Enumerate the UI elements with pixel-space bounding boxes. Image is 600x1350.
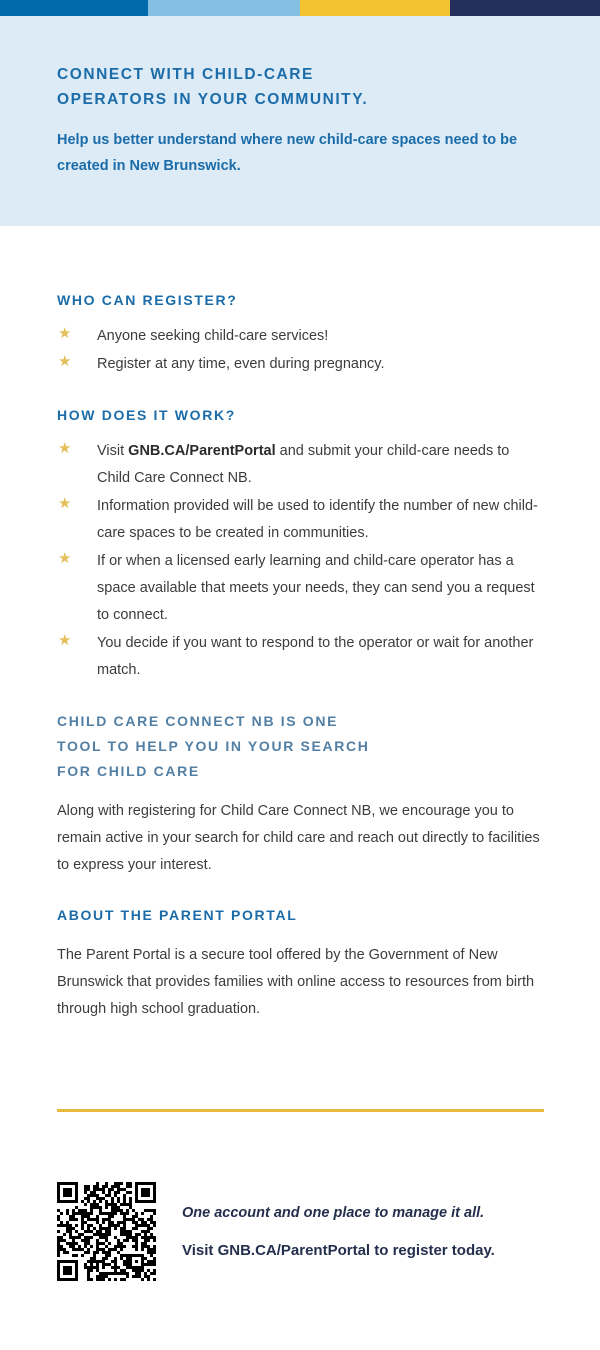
list-item-text: Information provided will be used to ide…	[97, 498, 538, 541]
topbar-segment-light-blue	[148, 0, 300, 16]
heading-line-3: FOR CHILD CARE	[57, 759, 544, 784]
spacer	[57, 428, 544, 438]
body-content: WHO CAN REGISTER? ★ Anyone seeking child…	[0, 226, 600, 1023]
section-paragraph-child-care-connect-tool: Along with registering for Child Care Co…	[57, 798, 544, 879]
parent-portal-link-text[interactable]: GNB.CA/ParentPortal	[128, 443, 275, 459]
spacer	[57, 685, 544, 709]
star-icon: ★	[58, 634, 71, 647]
footer-tagline: One account and one place to manage it a…	[182, 1202, 495, 1224]
footer-call-to-action[interactable]: Visit GNB.CA/ParentPortal to register to…	[182, 1240, 495, 1262]
spacer	[57, 928, 544, 942]
heading-line-1: CHILD CARE CONNECT NB IS ONE	[57, 709, 544, 734]
list-item: ★ Information provided will be used to i…	[57, 493, 544, 547]
footer: One account and one place to manage it a…	[0, 1182, 600, 1281]
topbar-segment-yellow	[300, 0, 450, 16]
section-heading-who-can-register: WHO CAN REGISTER?	[57, 288, 544, 313]
list-item-text-prefix: Visit	[97, 443, 128, 459]
body-top-spacer	[57, 226, 544, 288]
list-item: ★ Anyone seeking child-care services!	[57, 323, 544, 350]
spacer	[57, 784, 544, 798]
section-heading-how-does-it-work: HOW DOES IT WORK?	[57, 403, 544, 428]
hero-title-line-2: OPERATORS IN YOUR COMMUNITY.	[57, 87, 544, 112]
gold-divider	[57, 1109, 544, 1112]
footer-text-block: One account and one place to manage it a…	[182, 1202, 495, 1262]
star-icon: ★	[58, 497, 71, 510]
section-about-the-parent-portal: ABOUT THE PARENT PORTAL The Parent Porta…	[57, 903, 544, 1023]
topbar-segment-blue	[0, 0, 148, 16]
hero-title: CONNECT WITH CHILD-CARE OPERATORS IN YOU…	[57, 62, 544, 112]
list-item: ★Visit GNB.CA/ParentPortal and submit yo…	[57, 438, 544, 492]
flyer-page: CONNECT WITH CHILD-CARE OPERATORS IN YOU…	[0, 0, 600, 1350]
hero-title-line-1: CONNECT WITH CHILD-CARE	[57, 62, 544, 87]
heading-line-2: TOOL TO HELP YOU IN YOUR SEARCH	[57, 734, 544, 759]
topbar-segment-navy	[450, 0, 600, 16]
top-color-bar	[0, 0, 600, 16]
qr-code-icon[interactable]	[57, 1182, 156, 1281]
list-item: ★ Register at any time, even during preg…	[57, 351, 544, 378]
list-item-text: Register at any time, even during pregna…	[97, 356, 384, 372]
hero-band: CONNECT WITH CHILD-CARE OPERATORS IN YOU…	[0, 16, 600, 226]
bullet-list-how-does-it-work: ★Visit GNB.CA/ParentPortal and submit yo…	[57, 438, 544, 684]
list-item-text: Anyone seeking child-care services!	[97, 328, 328, 344]
list-item-text: You decide if you want to respond to the…	[97, 635, 533, 678]
list-item-text: If or when a licensed early learning and…	[97, 553, 535, 623]
star-icon: ★	[58, 327, 71, 340]
list-item: ★ If or when a licensed early learning a…	[57, 548, 544, 629]
spacer	[57, 379, 544, 403]
section-heading-about-the-parent-portal: ABOUT THE PARENT PORTAL	[57, 903, 544, 928]
spacer	[57, 879, 544, 903]
star-icon: ★	[58, 552, 71, 565]
section-paragraph-about-the-parent-portal: The Parent Portal is a secure tool offer…	[57, 942, 544, 1023]
star-icon: ★	[58, 355, 71, 368]
spacer	[57, 313, 544, 323]
section-how-does-it-work: HOW DOES IT WORK? ★Visit GNB.CA/ParentPo…	[57, 403, 544, 684]
bullet-list-who-can-register: ★ Anyone seeking child-care services! ★ …	[57, 323, 544, 378]
hero-subtitle: Help us better understand where new chil…	[57, 127, 544, 179]
section-heading-child-care-connect-tool: CHILD CARE CONNECT NB IS ONE TOOL TO HEL…	[57, 709, 544, 784]
list-item: ★ You decide if you want to respond to t…	[57, 630, 544, 684]
section-who-can-register: WHO CAN REGISTER? ★ Anyone seeking child…	[57, 288, 544, 378]
star-icon: ★	[58, 442, 71, 455]
divider-wrapper	[0, 1109, 600, 1112]
section-child-care-connect-tool: CHILD CARE CONNECT NB IS ONE TOOL TO HEL…	[57, 709, 544, 879]
